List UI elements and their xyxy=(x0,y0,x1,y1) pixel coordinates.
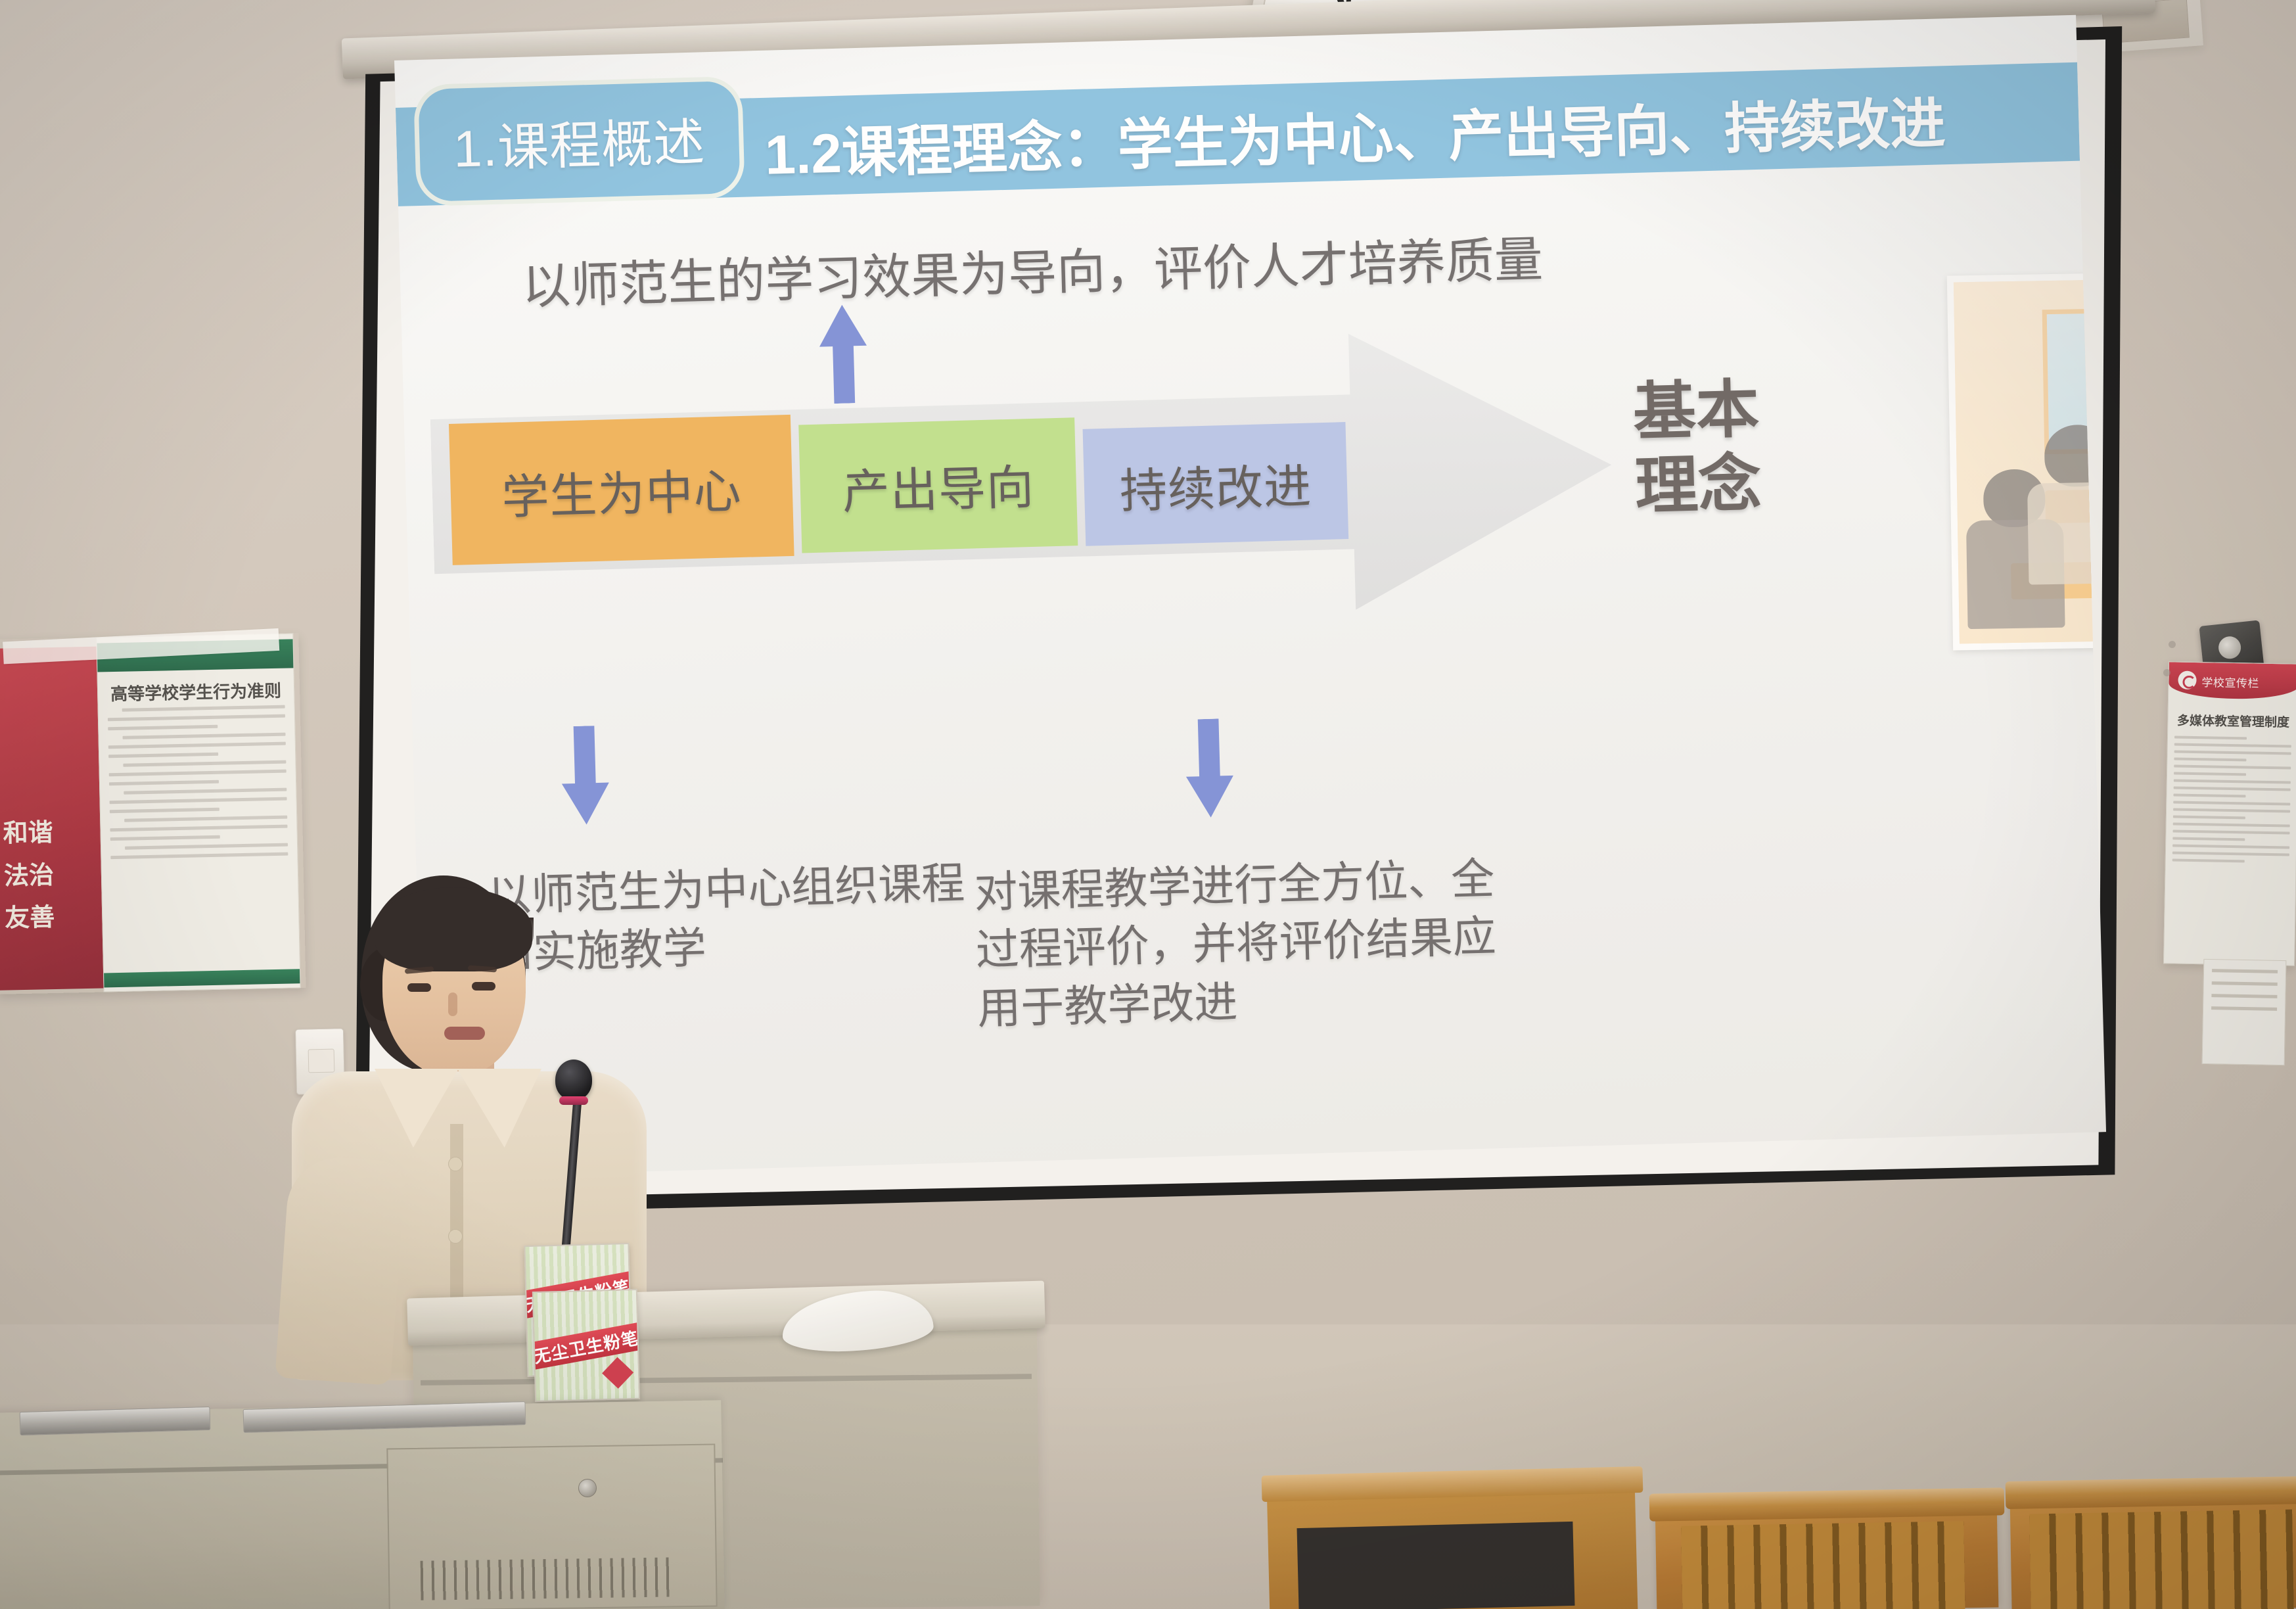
arrow-down-left-icon xyxy=(561,726,610,826)
concept-box-label: 持续改进 xyxy=(1119,447,1313,521)
concept-box-row: 学生为中心 产出导向 持续改进 xyxy=(449,400,1348,565)
wooden-chair-right-slats xyxy=(2029,1510,2295,1609)
microphone-ring xyxy=(559,1096,588,1105)
poster-text-line xyxy=(2174,743,2291,747)
concept-box-label: 产出导向 xyxy=(841,448,1035,523)
presenter-shirt-button xyxy=(448,1157,463,1171)
slide-bottom-right-text: 对课程教学进行全方位、全过程评价，并将评价结果应用于教学改进 xyxy=(973,849,1530,1038)
poster-text-line xyxy=(2174,772,2246,776)
poster-text-line xyxy=(110,825,287,832)
poster-text-line xyxy=(124,788,287,795)
poster-text-line xyxy=(2172,837,2245,841)
plate-line xyxy=(2212,969,2278,973)
presenter-nose xyxy=(448,992,457,1016)
right-poster-title: 多媒体教室管理制度 xyxy=(2168,711,2296,730)
slide-classroom-photo xyxy=(1947,268,2106,650)
poster-text-line xyxy=(110,808,219,814)
poster-text-line xyxy=(2174,757,2246,761)
arrow-up-icon xyxy=(818,304,868,404)
poster-text-line xyxy=(123,760,286,767)
wooden-chair-right-top-rail xyxy=(2006,1476,2296,1509)
wall-hole xyxy=(2163,669,2170,676)
poster-text-line xyxy=(2172,851,2289,856)
presenter-hair-front xyxy=(375,887,532,971)
basic-concept-line1: 基本 xyxy=(1632,372,1760,450)
poster-text-line xyxy=(124,816,287,822)
desk-lock-icon[interactable] xyxy=(578,1479,597,1497)
poster-text-line xyxy=(122,705,285,712)
slide-subtitle: 以师范生的学习效果为导向，评价人才培养质量 xyxy=(521,210,1902,318)
left-poster-value-friendly: 友善 xyxy=(5,896,84,940)
slide-section-badge-label: 1.课程概述 xyxy=(452,101,706,181)
poster-text-line xyxy=(2173,801,2290,805)
school-logo-icon xyxy=(2178,671,2196,689)
left-poster-red-panel: 和谐 法治 友善 xyxy=(0,646,108,990)
concept-box-label: 学生为中心 xyxy=(501,452,743,528)
left-wall-poster: 和谐 法治 友善 高等学校学生行为准则 xyxy=(0,633,306,994)
poster-text-line xyxy=(109,770,287,777)
concept-box-student-centered: 学生为中心 xyxy=(449,415,794,565)
wooden-chair-left-slats xyxy=(1681,1521,1966,1609)
poster-text-line xyxy=(108,742,286,749)
left-poster-value-ruleoflaw: 法治 xyxy=(3,854,83,898)
poster-text-line xyxy=(2172,844,2289,849)
presenter-arm xyxy=(275,1154,405,1385)
slide-photo-content xyxy=(1954,275,2106,643)
poster-text-line xyxy=(109,780,219,786)
poster-text-line xyxy=(2172,829,2289,834)
presenter-eye-left xyxy=(407,983,431,992)
presentation-slide: 1.课程概述 1.2课程理念：学生为中心、产出导向、持续改进 以师范生的学习效果… xyxy=(394,15,2106,1178)
poster-text-line xyxy=(2173,793,2245,797)
poster-text-line xyxy=(110,835,220,841)
concept-box-outcome-oriented: 产出导向 xyxy=(798,417,1078,553)
slide-section-badge: 1.课程概述 xyxy=(413,76,745,206)
poster-text-line xyxy=(2174,764,2291,769)
plate-line xyxy=(2211,1006,2277,1011)
left-poster-body-text xyxy=(108,705,290,966)
poster-text-line xyxy=(108,725,218,731)
left-poster-value-harmony: 和谐 xyxy=(3,811,82,855)
photo-projection-washout xyxy=(1954,275,2106,643)
presenter-mouth xyxy=(444,1027,485,1040)
basic-concept-line2: 理念 xyxy=(1634,446,1762,524)
basic-concept-label: 基本 理念 xyxy=(1632,372,1762,525)
poster-text-line xyxy=(2174,786,2291,791)
right-poster-brand: 学校宣传栏 xyxy=(2201,673,2293,691)
poster-text-line xyxy=(2174,779,2291,783)
presenter-shirt-button xyxy=(448,1229,463,1244)
plate-line xyxy=(2212,981,2278,986)
poster-text-line xyxy=(123,733,286,739)
poster-text-line xyxy=(2173,822,2290,827)
desk-ventilation-slots xyxy=(421,1557,677,1600)
presenter-eye-right xyxy=(472,982,495,991)
poster-text-line xyxy=(125,843,288,850)
wooden-bench-shadow xyxy=(1297,1522,1574,1609)
right-wall-poster: 学校宣传栏 多媒体教室管理制度 xyxy=(2163,661,2296,966)
right-poster-body-text xyxy=(2170,735,2291,958)
arrow-down-right-icon xyxy=(1185,718,1235,818)
poster-text-line xyxy=(108,714,285,722)
poster-text-line xyxy=(110,852,288,860)
right-wall-notice-plate xyxy=(2202,959,2287,1065)
left-poster-white-panel: 高等学校学生行为准则 xyxy=(96,633,300,992)
left-poster-green-footer xyxy=(104,969,300,987)
concept-box-continuous-improvement: 持续改进 xyxy=(1083,422,1349,546)
poster-text-line xyxy=(2174,750,2291,755)
chalk-box-lower: 无尘卫生粉笔 xyxy=(532,1289,640,1402)
poster-text-line xyxy=(2173,808,2290,812)
poster-text-line xyxy=(2173,815,2245,819)
plate-line xyxy=(2211,994,2277,998)
poster-text-line xyxy=(2172,858,2245,862)
left-poster-values: 和谐 法治 友善 xyxy=(3,811,84,940)
poster-text-line xyxy=(110,797,287,804)
wall-hole xyxy=(2169,641,2176,648)
left-poster-title: 高等学校学生行为准则 xyxy=(98,677,294,705)
poster-text-line xyxy=(2174,735,2247,739)
microphone-head-icon xyxy=(555,1060,592,1100)
screenshot-stage: 3 4 5 6 7 8 1.课程概述 1.2课程理念：学生为中心、产出导向、持续… xyxy=(0,0,2296,1609)
poster-text-line xyxy=(108,753,218,758)
